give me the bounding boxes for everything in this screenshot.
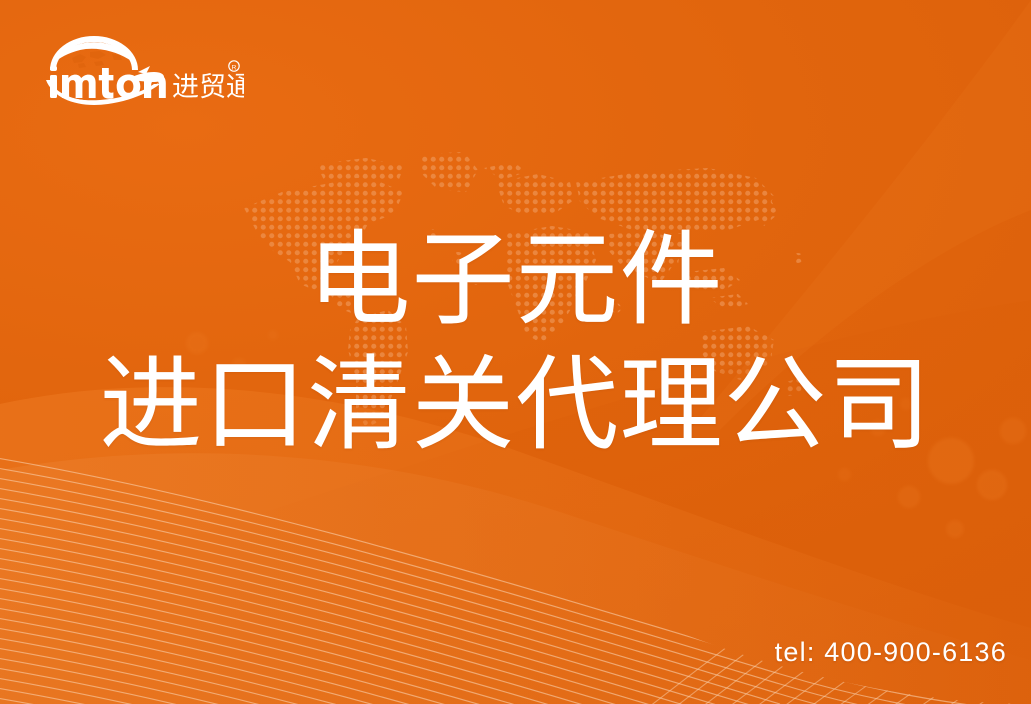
- company-logo[interactable]: 进贸通 R: [34, 30, 244, 108]
- telephone-text: tel: 400-900-6136: [775, 637, 1007, 668]
- wordmark-imton: [50, 66, 166, 99]
- globe-arc-icon: [50, 36, 138, 70]
- registered-trademark-icon: R: [229, 61, 239, 72]
- svg-text:R: R: [232, 64, 237, 71]
- logo-chinese-name: 进贸通: [172, 72, 244, 103]
- promotional-banner: 进贸通 R 电子元件 进口清关代理公司 tel: 400-900-6136: [0, 0, 1031, 704]
